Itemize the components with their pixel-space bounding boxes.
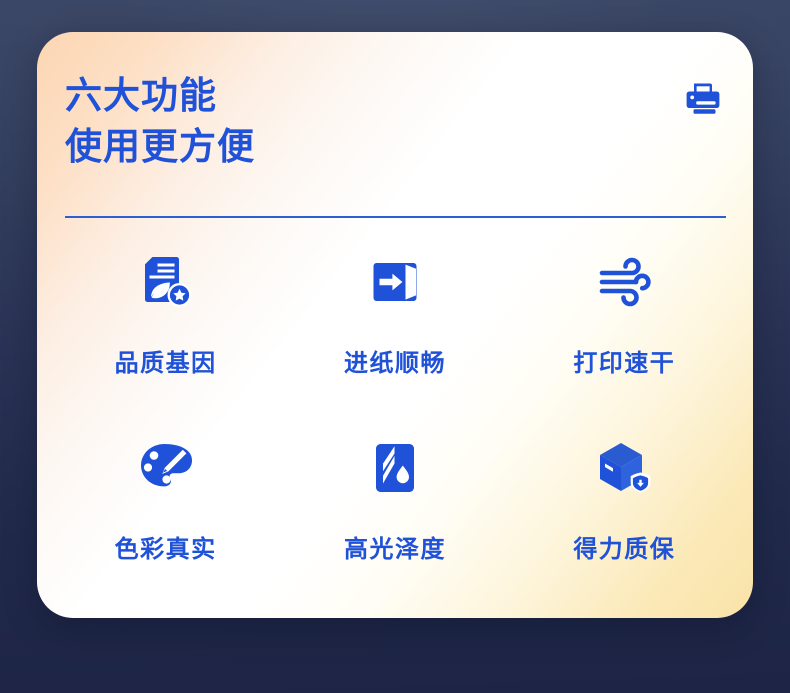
feature-item-quick-dry[interactable]: 打印速干 (510, 237, 739, 423)
box-shield-warranty-icon (593, 437, 655, 499)
feature-label: 色彩真实 (115, 529, 217, 564)
feature-item-paper-feed[interactable]: 进纸顺畅 (280, 237, 509, 423)
feature-label: 得力质保 (573, 529, 675, 564)
paint-palette-icon (135, 437, 197, 499)
paper-feed-arrow-icon (364, 251, 426, 313)
feature-label: 打印速干 (573, 343, 675, 378)
feature-item-high-gloss[interactable]: 高光泽度 (280, 423, 509, 609)
header-divider (65, 216, 726, 218)
wind-quick-dry-icon (593, 251, 655, 313)
glossy-droplet-icon (364, 437, 426, 499)
printer-icon (685, 80, 723, 118)
feature-label: 进纸顺畅 (344, 343, 446, 378)
feature-label: 高光泽度 (344, 529, 446, 564)
feature-item-true-color[interactable]: 色彩真实 (51, 423, 280, 609)
document-leaf-star-icon (135, 251, 197, 313)
page-title: 六大功能 使用更方便 (65, 70, 255, 172)
feature-item-quality-gene[interactable]: 品质基因 (51, 237, 280, 423)
feature-grid: 品质基因 进纸顺畅 打印速干 (37, 237, 753, 609)
feature-item-warranty[interactable]: 得力质保 (510, 423, 739, 609)
feature-label: 品质基因 (115, 343, 217, 378)
feature-card: 六大功能 使用更方便 (37, 32, 753, 618)
